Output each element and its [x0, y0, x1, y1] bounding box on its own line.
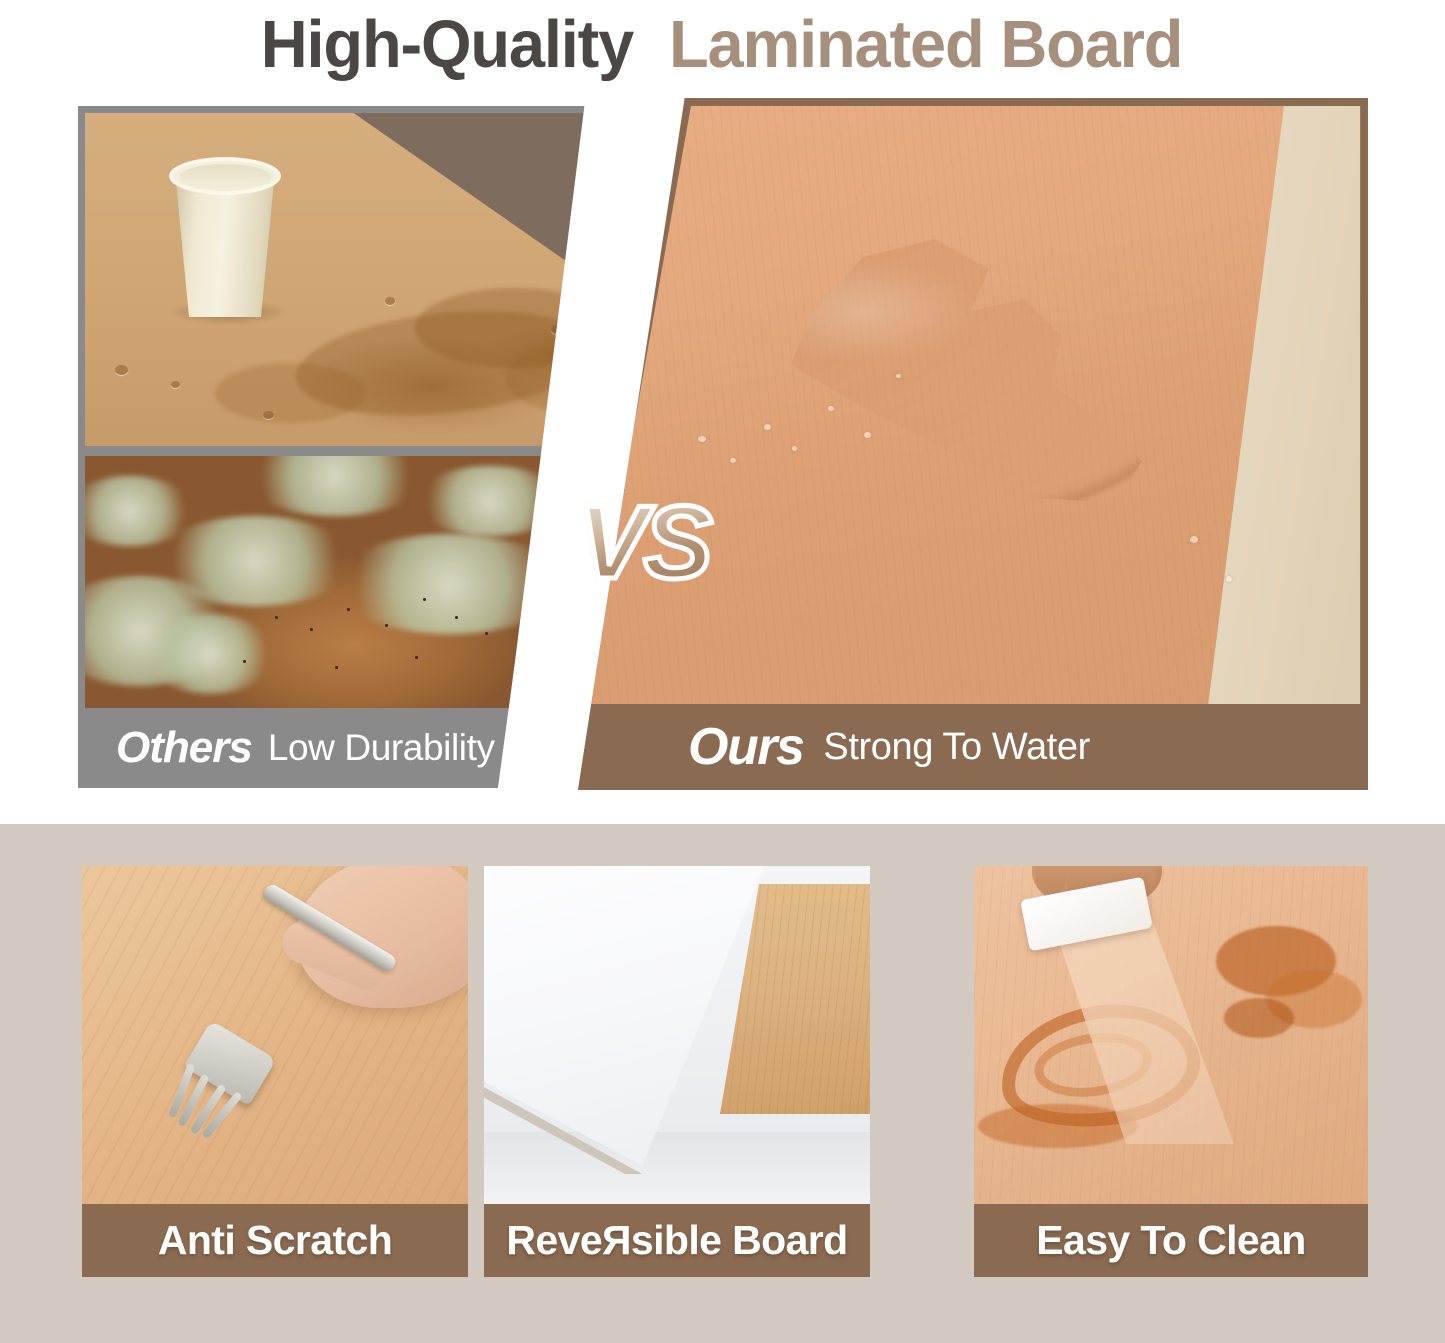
mold-patch [245, 456, 425, 516]
ours-caption-bar: Ours Strong To Water [578, 704, 1368, 790]
easy-to-clean-photo [974, 866, 1368, 1204]
page-title-part-one: High-Quality [261, 11, 633, 78]
water-droplet [385, 297, 395, 305]
comparison-section: Others Low Durability Ours Strong To Wat… [0, 88, 1445, 824]
anti-scratch-photo [82, 866, 468, 1204]
feature-card-easy-to-clean: Easy To Clean [974, 866, 1368, 1277]
surface-shadow [484, 1132, 870, 1204]
water-droplet [263, 411, 274, 419]
sauce-stain [1224, 998, 1294, 1038]
water-droplet [171, 381, 180, 388]
vs-badge: VS [578, 491, 709, 595]
water-bead [730, 458, 736, 463]
feature-card-anti-scratch: Anti Scratch [82, 866, 468, 1277]
water-bead [792, 446, 797, 451]
water-bead [864, 432, 871, 438]
water-bead [764, 424, 771, 430]
feature-section: Anti Scratch ReveЯsible Board [0, 824, 1445, 1343]
water-droplet [605, 349, 615, 357]
ours-caption-strong: Ours [688, 717, 803, 777]
feature-caption: Anti Scratch [82, 1204, 468, 1277]
feature-caption: ReveЯsible Board [484, 1204, 870, 1277]
paper-cup [169, 149, 281, 317]
water-bead [1190, 536, 1198, 543]
page-title: High-Quality Laminated Board [0, 0, 1445, 88]
others-caption-strong: Others [116, 723, 252, 773]
mold-patch [145, 614, 275, 694]
page-title-part-two: Laminated Board [669, 11, 1182, 78]
water-puddle [215, 363, 365, 423]
others-caption-sub: Low Durability [268, 727, 495, 769]
cup-interior [179, 164, 271, 190]
water-bead [828, 406, 834, 411]
feature-card-reversible-board: ReveЯsible Board [484, 866, 870, 1277]
ours-panel: Ours Strong To Water [578, 98, 1368, 790]
water-bead [896, 374, 901, 378]
ours-water-photo [578, 106, 1368, 706]
finger [1036, 866, 1066, 894]
ours-caption-sub: Strong To Water [823, 726, 1089, 769]
reversible-board-photo [484, 866, 870, 1204]
water-bead [698, 436, 706, 442]
water-droplet [115, 365, 128, 375]
feature-caption: Easy To Clean [974, 1204, 1368, 1277]
water-bead [1226, 576, 1232, 582]
